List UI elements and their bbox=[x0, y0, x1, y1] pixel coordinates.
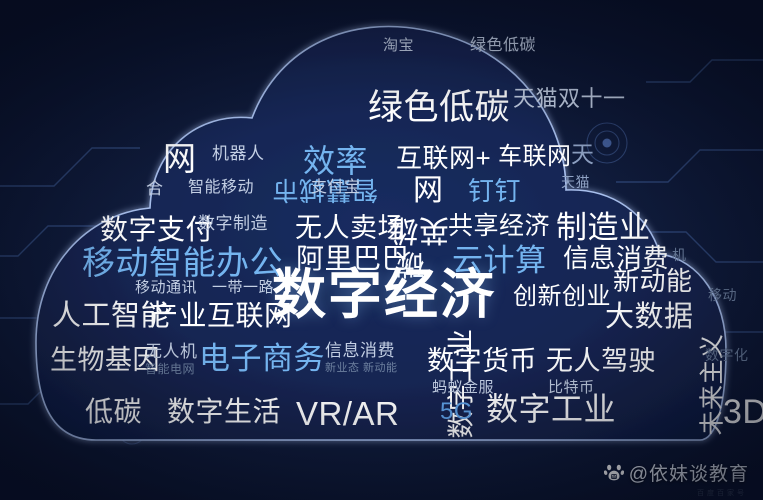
wordcloud-image: 淘宝绿色低碳绿色低碳天猫双十一网机器人智慧城市效率互联网+车联网天合智能移动支付… bbox=[0, 0, 763, 500]
vignette-overlay bbox=[0, 0, 763, 500]
